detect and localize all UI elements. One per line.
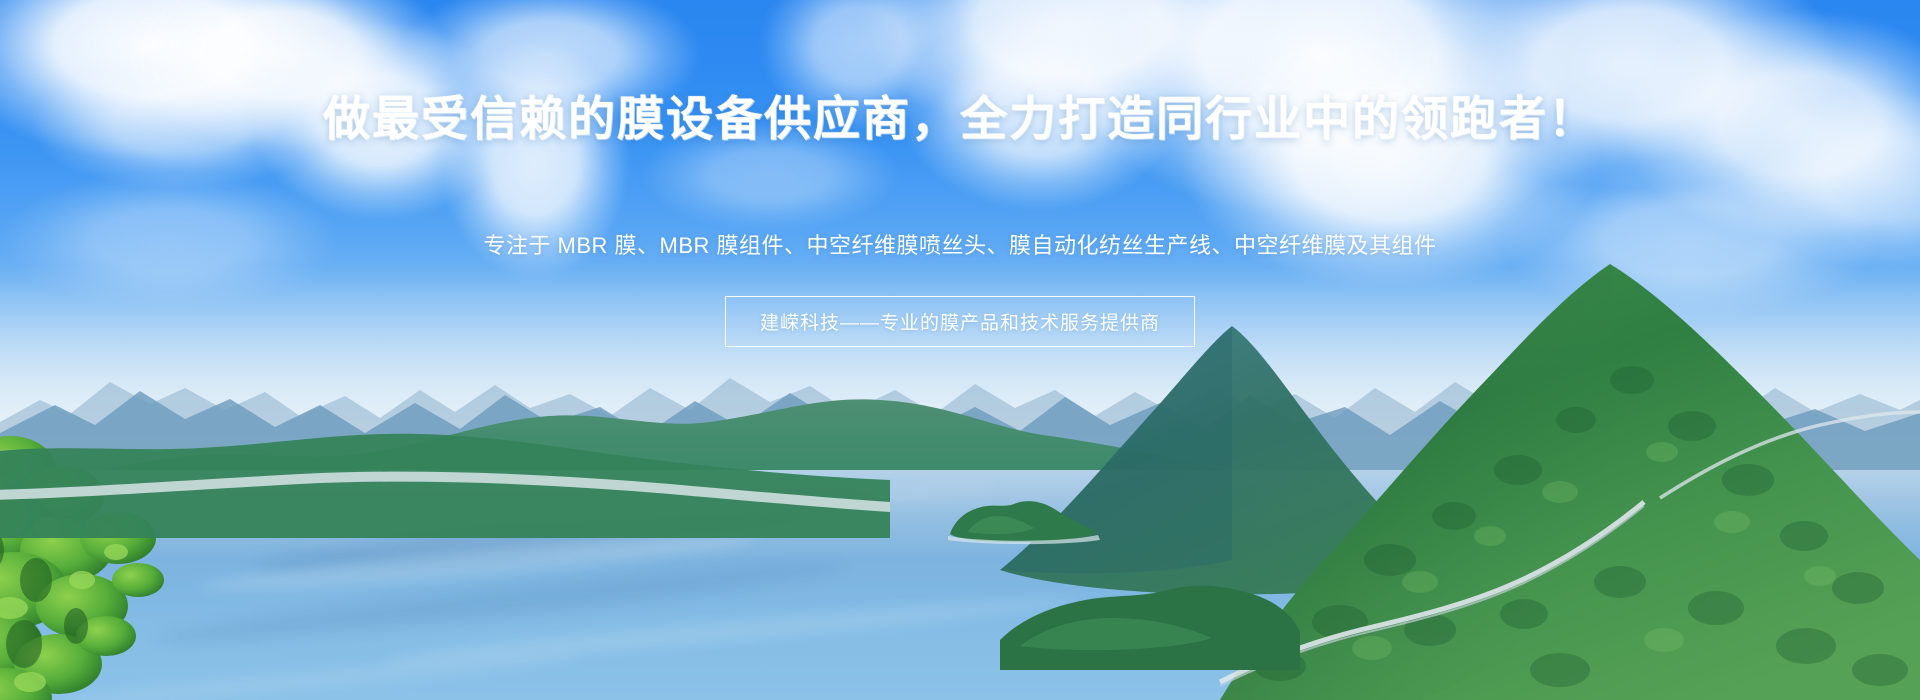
- banner-tagline-container: 建嵘科技——专业的膜产品和技术服务提供商: [0, 296, 1920, 347]
- banner-subheadline: 专注于 MBR 膜、MBR 膜组件、中空纤维膜喷丝头、膜自动化纺丝生产线、中空纤…: [0, 228, 1920, 260]
- banner-text-overlay: 做最受信赖的膜设备供应商，全力打造同行业中的领跑者！ 专注于 MBR 膜、MBR…: [0, 0, 1920, 700]
- hero-banner: 做最受信赖的膜设备供应商，全力打造同行业中的领跑者！ 专注于 MBR 膜、MBR…: [0, 0, 1920, 700]
- banner-headline: 做最受信赖的膜设备供应商，全力打造同行业中的领跑者！: [0, 96, 1920, 143]
- banner-tagline: 建嵘科技——专业的膜产品和技术服务提供商: [725, 296, 1195, 347]
